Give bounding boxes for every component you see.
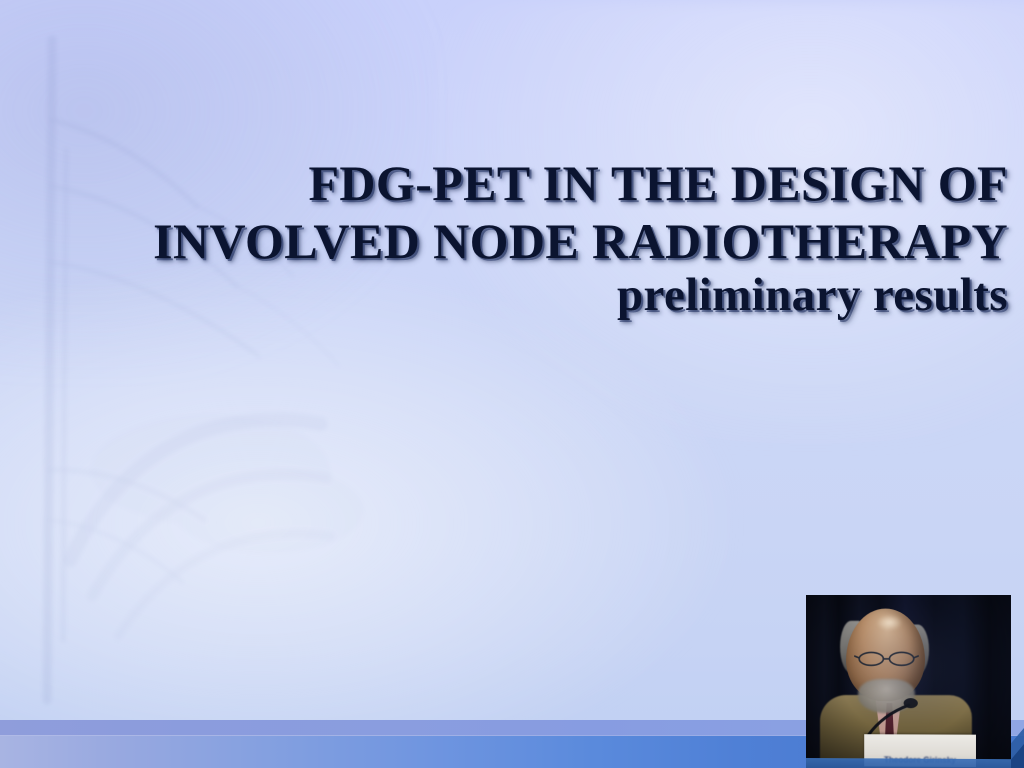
speaker-video-overlay[interactable]: Theodore Girinsky	[806, 595, 1011, 768]
podium-desk-edge	[806, 758, 1011, 768]
slide-title-block: FDG-PET IN THE DESIGN OF INVOLVED NODE R…	[60, 158, 1008, 319]
title-subtitle: preliminary results	[60, 272, 1008, 319]
video-scene: Theodore Girinsky	[806, 595, 1011, 768]
video-frame[interactable]: Theodore Girinsky	[806, 595, 1011, 768]
title-line-1: FDG-PET IN THE DESIGN OF	[60, 158, 1008, 208]
title-line-2: INVOLVED NODE RADIOTHERAPY	[60, 216, 1008, 266]
presentation-slide: FDG-PET IN THE DESIGN OF INVOLVED NODE R…	[0, 0, 1024, 768]
